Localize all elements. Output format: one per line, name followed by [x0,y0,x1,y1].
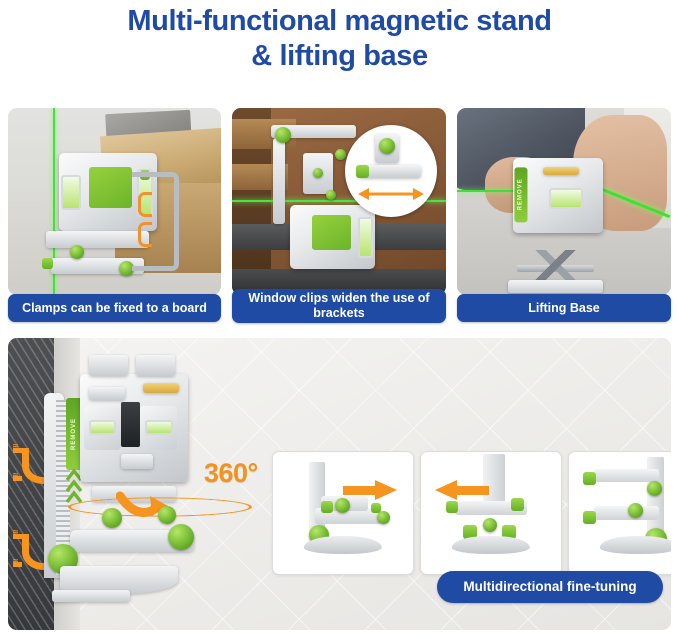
side-knob [42,258,53,269]
caption-lifting-base-text: Lifting Base [528,301,600,316]
caption-lifting-base: Lifting Base [457,294,671,322]
diagram-base-foot [304,536,382,554]
diagram-deck-lower [594,506,658,521]
diagram-deck-upper [594,469,658,482]
double-arrow-icon [358,186,424,202]
diagram-knob-end [377,511,390,524]
closeup-inset-callout [345,125,437,217]
diagram-knob-center [483,518,497,532]
center-slot [121,402,140,447]
diagram-knob-lower-center [628,503,643,518]
laser-lens [61,175,81,210]
device-top-handle-right [136,355,175,377]
bracket-knob-right [335,149,346,160]
bracket-vertical-rail [273,138,286,224]
laser-level-device [290,205,376,269]
diagram-panel-slide-left [420,451,562,575]
page-title: Multi-functional magnetic stand & liftin… [0,4,679,75]
scissor-x-linkage [525,250,587,280]
device-green-face [89,167,132,208]
laser-window [549,188,584,208]
remove-label: REMOVE [514,167,527,222]
orange-clip-lower-icon [138,222,152,247]
diagram-panel-slide-right [272,451,414,575]
hero-panel: ≋ ≋ ≋ ≋ REMOVE [8,338,671,630]
laser-lens-right [358,217,373,258]
diagram-knob-left [446,501,458,513]
arrow-left-icon [435,479,489,501]
caption-fine-tuning: Multidirectional fine-tuning [437,571,663,603]
orange-clip-upper-icon [138,192,152,217]
arrow-right-icon [343,479,397,501]
front-window [121,454,153,469]
diagram-base-foot [452,536,530,554]
remove-label-text: REMOVE [71,418,77,450]
fine-tune-knob-left [102,508,122,528]
laser-lens-right [145,420,173,435]
diagram-knob-upper-left [583,472,596,485]
metal-clamp-bracket [132,172,180,272]
card-lifting-base-photo: REMOVE [457,108,671,295]
magnet-spark-d-icon: ≋ [12,557,19,566]
page-title-line-2: & lifting base [0,39,679,74]
base-plate-bottom [52,590,130,602]
caption-window-clips-text: Window clips widen the use of brackets [238,291,440,321]
card-window-clips-photo [232,108,446,295]
laser-level-device: REMOVE [513,158,603,233]
laser-level-device-hero [80,374,188,482]
product-infographic: Multi-functional magnetic stand & liftin… [0,0,679,639]
inset-knob-left [356,165,369,178]
spec-label-right [143,383,180,394]
fine-tune-knob-right [158,506,176,524]
bracket-knob-top [275,127,291,143]
adjust-knob [70,245,84,259]
caption-fine-tuning-text: Multidirectional fine-tuning [463,579,636,595]
magnet-spark-c-icon: ≋ [12,528,19,537]
page-title-line-1: Multi-functional magnetic stand [127,5,551,37]
caption-clamps: Clamps can be fixed to a board [8,294,221,322]
diagram-base-foot [600,536,671,554]
remove-label-text: REMOVE [518,179,524,211]
spec-label-left [89,387,126,400]
card-clamps-photo [8,108,221,295]
warning-label [543,167,579,174]
rotation-label-360: 360° [204,458,258,489]
laser-lens-left [89,420,117,435]
diagram-panel-lower-down [568,451,671,575]
magnet-spark-a-icon: ≋ [12,442,19,451]
diagram-knob-lower-left [583,511,596,524]
caption-window-clips: Window clips widen the use of brackets [232,289,446,323]
rotation-label-360-text: 360° [204,458,258,488]
magnet-spark-b-icon: ≋ [12,471,19,480]
device-green-face [312,215,351,249]
lift-bottom-plate [508,280,602,293]
diagram-knob-right [511,498,524,511]
diagram-knob-left [321,501,333,513]
caption-clamps-text: Clamps can be fixed to a board [22,301,207,316]
device-top-handle-left [89,355,128,377]
lock-knob-large [168,524,194,550]
scissor-lift-base [517,246,594,283]
